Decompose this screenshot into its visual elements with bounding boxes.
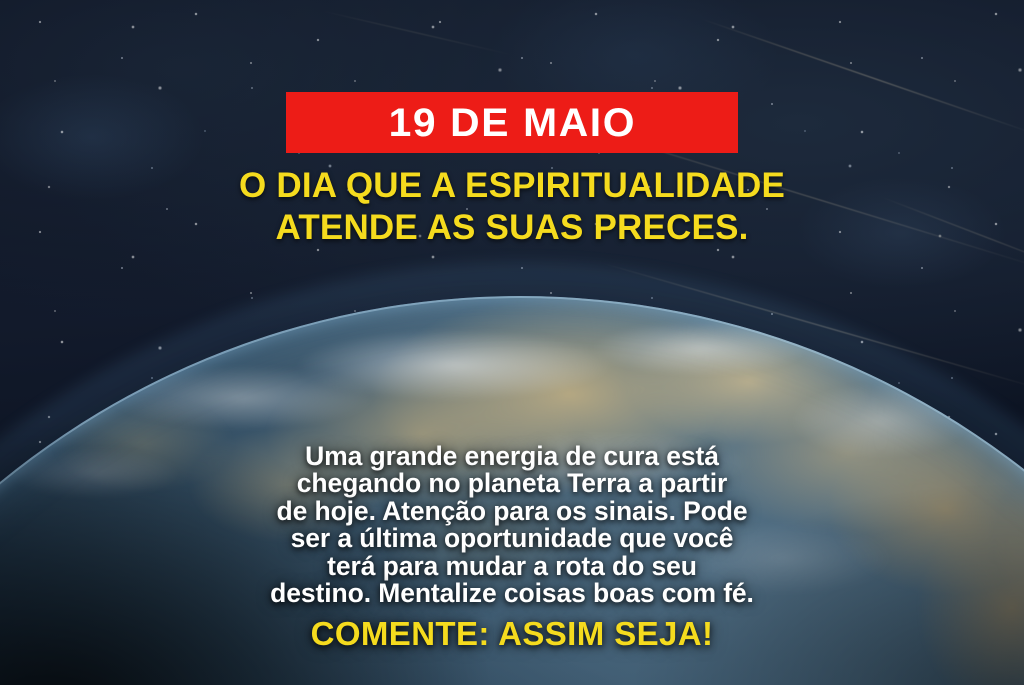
headline: O DIA QUE A ESPIRITUALIDADE ATENDE AS SU… xyxy=(0,165,1024,250)
headline-line-2: ATENDE AS SUAS PRECES. xyxy=(40,207,984,249)
date-banner: 19 DE MAIO xyxy=(286,92,738,153)
body-line-5: terá para mudar a rota do seu xyxy=(34,553,990,580)
call-to-action-text: COMENTE: ASSIM SEJA! xyxy=(0,617,1024,650)
poster-content: 19 DE MAIO O DIA QUE A ESPIRITUALIDADE A… xyxy=(0,0,1024,685)
body-copy: Uma grande energia de cura está chegando… xyxy=(0,443,1024,608)
poster-canvas: 19 DE MAIO O DIA QUE A ESPIRITUALIDADE A… xyxy=(0,0,1024,685)
date-banner-text: 19 DE MAIO xyxy=(388,103,636,143)
body-line-4: ser a última oportunidade que você xyxy=(34,525,990,552)
body-line-6: destino. Mentalize coisas boas com fé. xyxy=(34,580,990,607)
body-line-2: chegando no planeta Terra a partir xyxy=(34,470,990,497)
body-line-1: Uma grande energia de cura está xyxy=(34,443,990,470)
body-line-3: de hoje. Atenção para os sinais. Pode xyxy=(34,498,990,525)
headline-line-1: O DIA QUE A ESPIRITUALIDADE xyxy=(40,165,984,207)
